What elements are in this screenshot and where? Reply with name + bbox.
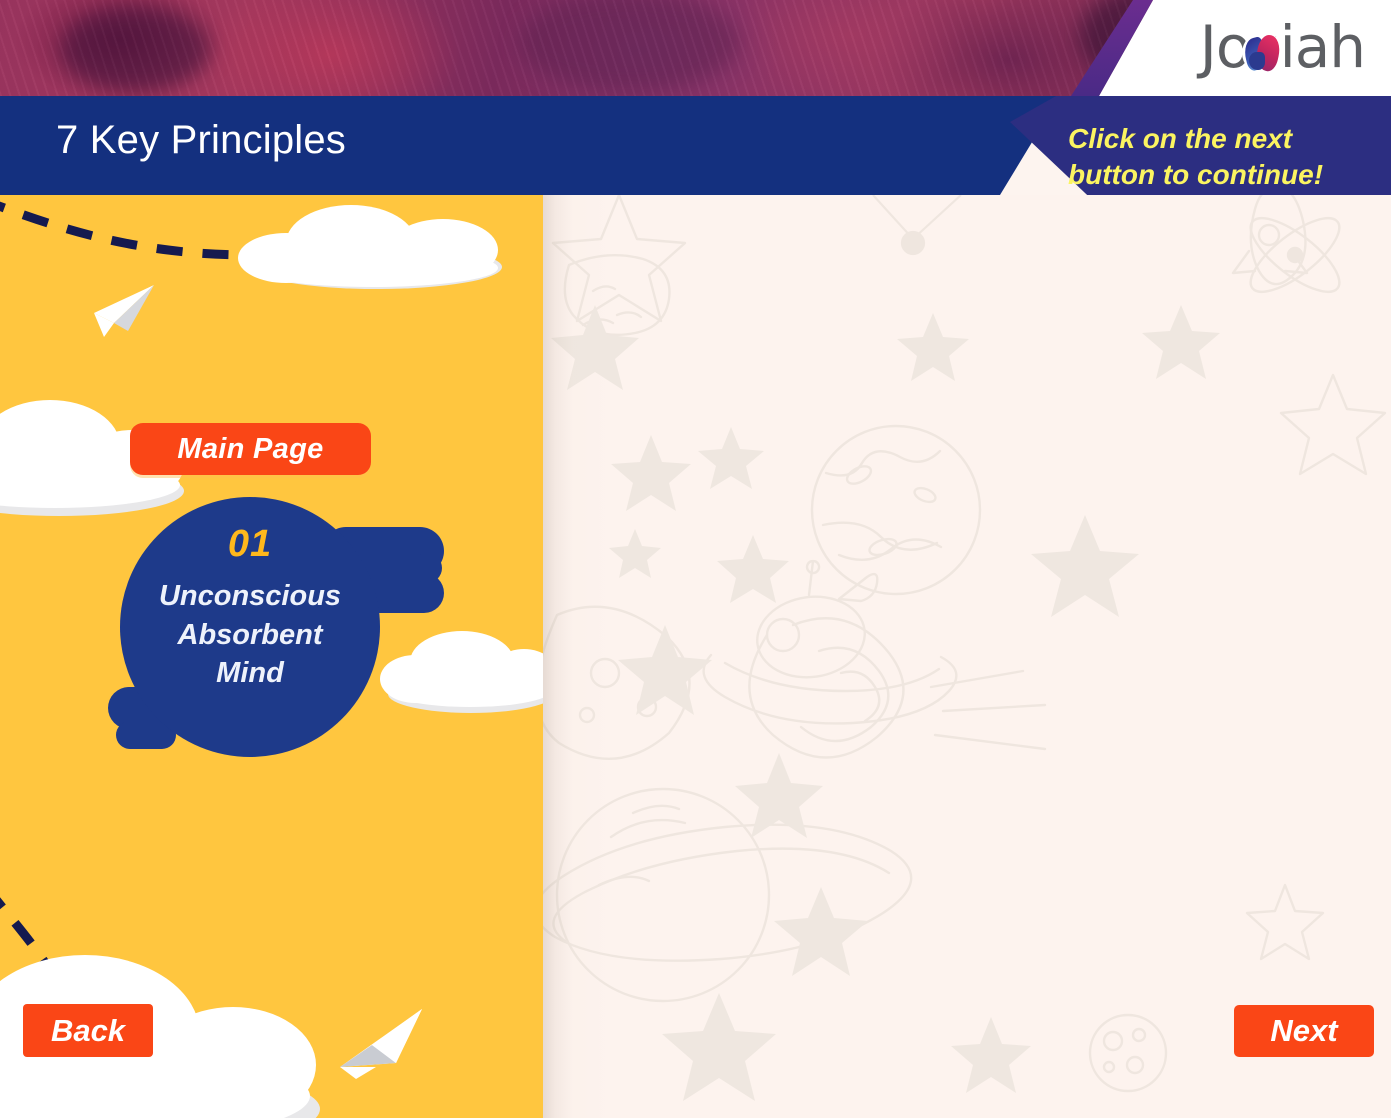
principle-label-line1: Unconscious (120, 577, 380, 616)
instruction-text: Click on the next button to continue! (1068, 121, 1368, 192)
right-content-panel (543, 195, 1391, 1118)
brand-logo[interactable]: Josiah (1200, 14, 1365, 80)
next-button[interactable]: Next (1234, 1005, 1374, 1057)
back-button-label: Back (51, 1013, 125, 1049)
principle-number: 01 (100, 523, 400, 566)
paper-plane-icon (92, 283, 158, 339)
paper-plane-icon (336, 1005, 428, 1081)
josiah-woman-profile-mark-icon (1242, 32, 1284, 74)
space-doodles-layer (543, 195, 1391, 1118)
page-title: 7 Key Principles (56, 118, 346, 163)
principle-badge[interactable]: 01 Unconscious Absorbent Mind (100, 485, 460, 770)
main-page-button-label: Main Page (177, 433, 323, 466)
next-button-label: Next (1270, 1013, 1337, 1049)
main-page-button[interactable]: Main Page (130, 423, 371, 475)
principle-label-line2: Absorbent (120, 616, 380, 655)
left-yellow-panel: Main Page 01 Unconscious Absorbent Mind (0, 195, 543, 1118)
principle-label: Unconscious Absorbent Mind (120, 577, 380, 693)
principle-label-line3: Mind (120, 654, 380, 693)
slide-root: Josiah 7 Key Principles Click on the nex… (0, 0, 1391, 1118)
back-button[interactable]: Back (23, 1004, 153, 1057)
cloud (238, 205, 508, 295)
blob-accent-dot (412, 553, 442, 583)
